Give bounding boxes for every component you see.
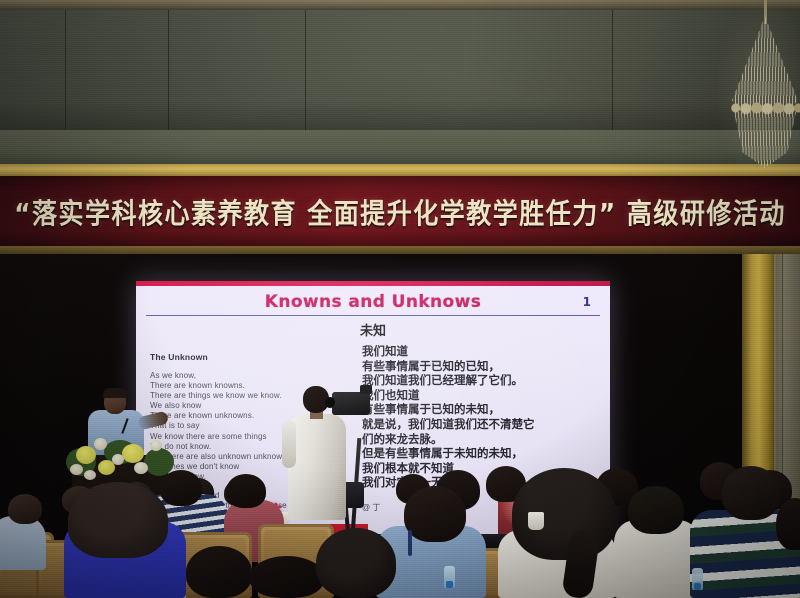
slide-title: Knowns and Unknows <box>136 292 610 312</box>
water-bottle <box>444 566 455 588</box>
english-line: As we know, <box>150 371 355 381</box>
chinese-line: 就是说，我们知道我们还不清楚它 <box>362 417 602 432</box>
audience-torso <box>0 516 46 570</box>
audience-head <box>8 494 42 524</box>
lanyard <box>408 530 412 556</box>
event-banner: “落实学科核心素养教育 全面提升化学教学胜任力” 高级研修活动 <box>0 176 800 248</box>
chinese-line: 我们知道 <box>362 344 602 359</box>
videographer-torso <box>288 414 346 520</box>
paper-cup <box>528 512 544 530</box>
audience-head <box>404 486 466 542</box>
audience-head <box>250 556 324 598</box>
audience-head <box>628 486 684 534</box>
chinese-line: 我们知道我们已经理解了它们。 <box>362 373 602 388</box>
event-banner-text: “落实学科核心素养教育 全面提升化学教学胜任力” 高级研修活动 <box>14 192 786 232</box>
audience-head <box>316 528 396 598</box>
audience-head <box>160 470 202 506</box>
upper-wall-panel <box>0 10 800 130</box>
chinese-line: 们的来龙去脉。 <box>362 432 602 447</box>
videographer-arm <box>282 420 296 468</box>
lower-wall-panel <box>0 130 800 166</box>
water-bottle <box>692 568 703 590</box>
chinese-line: 但是有些事情属于未知的未知， <box>362 446 602 461</box>
audience-hair <box>68 482 168 558</box>
chinese-line: 有些事情属于已知的未知， <box>362 402 602 417</box>
floral-arrangement <box>64 432 176 486</box>
audience-head <box>186 546 252 598</box>
chinese-line: 有些事情属于已知的已知， <box>362 359 602 374</box>
audience-head <box>722 466 780 520</box>
slide-page-number: 1 <box>583 295 591 309</box>
camcorder <box>332 392 370 415</box>
speaker-hair <box>103 388 127 398</box>
chinese-line: 我们也知道 <box>362 388 602 403</box>
crystal-chandelier <box>728 0 800 180</box>
slide-subtitle: 未知 <box>136 320 610 339</box>
english-heading: The Unknown <box>150 352 355 362</box>
audience-head <box>226 474 266 508</box>
conference-hall-photo: “落实学科核心素养教育 全面提升化学教学胜任力” 高级研修活动 Knowns a… <box>0 0 800 598</box>
slide-divider <box>146 315 600 316</box>
